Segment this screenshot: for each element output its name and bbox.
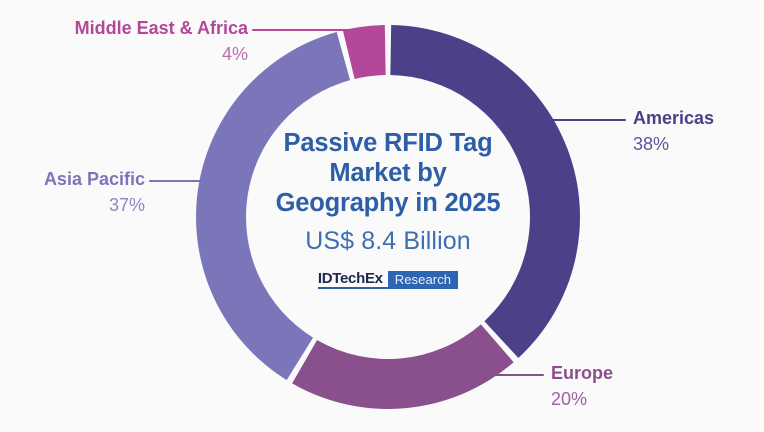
donut-slice-middle-east-and-africa[interactable] <box>343 25 386 79</box>
callout-value-europe: 20% <box>551 387 671 411</box>
callout-label-americas: Americas <box>633 107 753 129</box>
callout-value-middle-east-africa: 4% <box>44 42 248 66</box>
callout-value-asia-pacific: 37% <box>8 193 145 217</box>
callout-asia-pacific: Asia Pacific 37% <box>8 168 145 217</box>
donut-slice-europe[interactable] <box>292 324 514 409</box>
leader-line-americas <box>550 119 626 121</box>
callout-europe: Europe 20% <box>551 362 671 411</box>
donut-chart <box>195 24 581 410</box>
leader-line-asia-pacific <box>149 180 220 182</box>
callout-label-middle-east-africa: Middle East & Africa <box>44 17 248 39</box>
donut-slice-asia-pacific[interactable] <box>196 32 350 380</box>
donut-slice-americas[interactable] <box>390 25 580 358</box>
leader-line-middle-east-africa <box>252 29 353 31</box>
callout-value-americas: 38% <box>633 132 753 156</box>
callout-middle-east-africa: Middle East & Africa 4% <box>44 17 248 66</box>
callout-americas: Americas 38% <box>633 107 753 156</box>
callout-label-asia-pacific: Asia Pacific <box>8 168 145 190</box>
infographic-canvas: Passive RFID Tag Market by Geography in … <box>0 0 764 432</box>
callout-label-europe: Europe <box>551 362 671 384</box>
donut-chart-svg <box>195 24 581 410</box>
donut-slice-group <box>196 25 580 409</box>
leader-line-europe <box>470 374 544 376</box>
